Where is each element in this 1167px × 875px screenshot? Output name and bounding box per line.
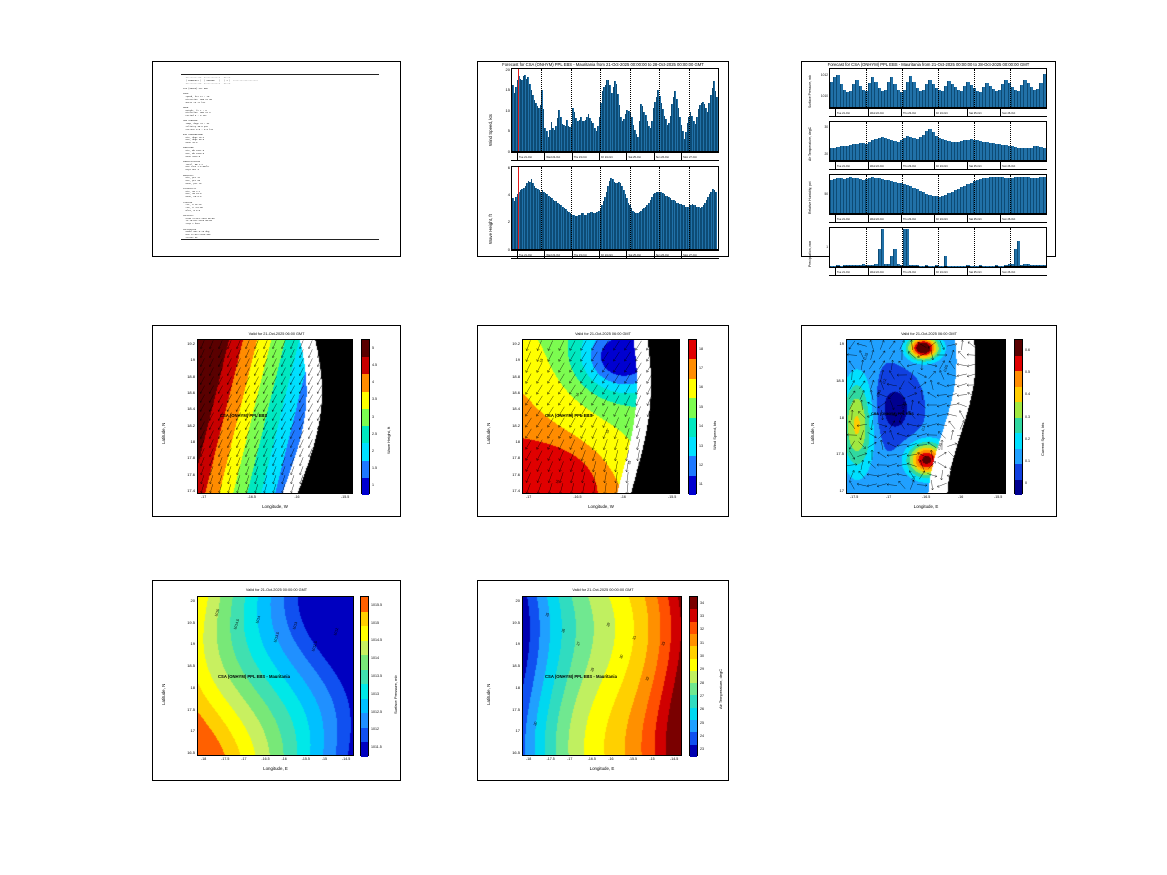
map-y-tick: 20 (496, 598, 520, 603)
colorbar-tick: 0.4 (1025, 392, 1030, 396)
map-x-tick: -15.5 (302, 757, 310, 761)
date-tick: Thu 23-Oct (901, 268, 934, 275)
gridline (659, 69, 660, 151)
bar (1043, 74, 1046, 107)
map-x-tick: -16.5 (573, 495, 581, 499)
colorbar-tick: 34 (700, 601, 704, 605)
colorbar-segment (1015, 433, 1022, 449)
date-tick: Sun 26-Oct (1000, 268, 1033, 275)
map-y-tick: 17.6 (496, 472, 520, 477)
colorbar-tick: 25 (700, 721, 704, 725)
y-tick-label: 5 (484, 128, 510, 133)
map-x-tick: -17 (526, 495, 531, 499)
colorbar-tick: 0.2 (1025, 437, 1030, 441)
colorbar-segment (361, 728, 368, 743)
gridline (1010, 122, 1011, 160)
map-x-tick: -17.5 (221, 757, 229, 761)
colorbar-tick: 0.6 (1025, 348, 1030, 352)
date-tick: Wed 22-Oct (544, 153, 571, 160)
temp-colorbar-label: Air Temperature, degC (718, 669, 723, 709)
colorbar-segment (361, 670, 368, 685)
map-y-tick: 19 (171, 641, 195, 646)
gridline (902, 175, 903, 213)
map-y-tick: 17.4 (171, 488, 195, 493)
map-x-tick: -16.5 (588, 757, 596, 761)
precipitation-date-axis: Tue 21-OctWed 22-OctThu 23-OctFri 24-Oct… (829, 267, 1047, 276)
colorbar-segment (362, 461, 369, 478)
colorbar-segment (362, 392, 369, 409)
date-tick: Fri 24-Oct (934, 162, 967, 169)
map-y-tick: 17 (496, 728, 520, 733)
colorbar-tick: 2 (372, 449, 374, 453)
current-colorbar-label: Current Speed, kts (1040, 423, 1045, 456)
map-x-tick: -17.5 (850, 495, 858, 499)
colorbar-tick: 31 (700, 641, 704, 645)
colorbar-segment (1015, 418, 1022, 434)
y-tick-label: 1 (802, 245, 828, 249)
map-y-tick: 19 (496, 357, 520, 362)
gridline (866, 228, 867, 266)
colorbar-tick: 3 (372, 415, 374, 419)
bar (881, 229, 884, 266)
map-x-tick: -16.5 (261, 757, 269, 761)
current-speed-map-panel: Valid for 21-Oct-2025 06:00 GMT CSA (ONH… (801, 325, 1057, 517)
date-tick: Thu 23-Oct (901, 215, 934, 222)
map-x-tick: -17 (886, 495, 891, 499)
map-x-tick: -16 (294, 495, 299, 499)
colorbar-tick: 32 (700, 627, 704, 631)
date-tick: Tue 21-Oct (835, 162, 868, 169)
now-marker-wind (518, 69, 519, 151)
date-tick: Sun 26-Oct (654, 251, 681, 258)
map-y-tick: 16.5 (171, 750, 195, 755)
colorbar-segment (690, 745, 697, 757)
map-y-tick: 19 (496, 641, 520, 646)
wind-speed-date-axis: Tue 21-OctWed 22-OctThu 23-OctFri 24-Oct… (511, 152, 719, 161)
gridline (689, 69, 690, 151)
map-x-tick: -15.5 (341, 495, 349, 499)
date-tick: Tue 21-Oct (517, 251, 544, 258)
date-tick: Fri 24-Oct (599, 251, 626, 258)
date-tick: Mon 27-Oct (681, 153, 708, 160)
map-y-tick: 18.2 (496, 423, 520, 428)
temp-map-ylabel: Latitude, N (486, 684, 491, 705)
date-tick: Fri 24-Oct (934, 109, 967, 116)
map-x-tick: -15.5 (994, 495, 1002, 499)
map-y-tick: 18 (496, 439, 520, 444)
colorbar-segment (690, 646, 697, 658)
date-tick: Tue 21-Oct (835, 215, 868, 222)
map-y-tick: 19 (820, 341, 844, 346)
colorbar-segment (362, 478, 369, 495)
date-tick: Thu 23-Oct (572, 153, 599, 160)
colorbar-tick: 1015 (371, 621, 379, 625)
site-label-pressure: CSA (ONHYM) PPL EBS - Mauritania (218, 674, 290, 679)
map-y-tick: 18.2 (171, 423, 195, 428)
colorbar-segment (362, 374, 369, 391)
colorbar-tick: 1012 (371, 727, 379, 731)
colorbar-tick: 1012.5 (371, 710, 382, 714)
map-y-tick: 19.2 (496, 341, 520, 346)
map-y-tick: 18.5 (820, 378, 844, 383)
surface-pressure-map-area: CSA (ONHYM) PPL EBS - Mauritania 1015101… (197, 596, 354, 756)
map-y-tick: 18.5 (171, 663, 195, 668)
contour-label: 16 (555, 479, 560, 484)
date-tick: Wed 22-Oct (868, 215, 901, 222)
colorbar-tick: 0.3 (1025, 415, 1030, 419)
wave-map-title: Valid for 21-Oct-2025 06:00 GMT (153, 332, 400, 336)
map-x-tick: -16 (282, 757, 287, 761)
map-x-tick: -16 (608, 757, 613, 761)
map-y-tick: 17.5 (171, 707, 195, 712)
map-x-tick: -15 (322, 757, 327, 761)
contour-label: 18 (539, 358, 544, 363)
gridline (974, 228, 975, 266)
wind-map-ylabel: Latitude, N (486, 423, 491, 444)
colorbar-tick: 1 (372, 483, 374, 487)
site-label-wave: CSA (ONHYM) PPL EBS (220, 413, 267, 418)
wind-map-xlabel: Longitude, W (522, 504, 680, 509)
colorbar-tick: 5 (372, 346, 374, 350)
gridline (1010, 228, 1011, 266)
gridline (541, 167, 542, 249)
date-tick: Sun 26-Oct (1000, 109, 1033, 116)
colorbar-segment (690, 609, 697, 621)
map-x-tick: -15.5 (668, 495, 676, 499)
temp-colorbar (689, 596, 698, 756)
colorbar-segment (689, 359, 696, 378)
contour-field (847, 340, 1005, 493)
colorbar-segment (690, 671, 697, 683)
contour-label: 31 (632, 635, 637, 640)
colorbar-segment (690, 597, 697, 609)
colorbar-segment (1015, 480, 1022, 496)
wind-colorbar (688, 339, 697, 494)
pressure-map-xlabel: Longitude, E (197, 766, 354, 771)
date-tick: Thu 23-Oct (901, 162, 934, 169)
colorbar-segment (361, 713, 368, 728)
bar (906, 229, 909, 266)
gridline (974, 175, 975, 213)
colorbar-tick: 24 (700, 734, 704, 738)
map-y-tick: 19.5 (171, 620, 195, 625)
map-y-tick: 17.8 (496, 455, 520, 460)
date-tick: Sat 25-Oct (967, 215, 1000, 222)
colorbar-tick: 1011.5 (371, 745, 382, 749)
map-y-tick: 18.4 (171, 406, 195, 411)
colorbar-segment (689, 456, 696, 475)
colorbar-tick: 27 (700, 694, 704, 698)
now-marker-wave (518, 167, 519, 249)
date-tick: Wed 22-Oct (868, 268, 901, 275)
map-y-tick: 18 (820, 415, 844, 420)
date-tick: Sun 26-Oct (654, 153, 681, 160)
date-tick: Sat 25-Oct (967, 109, 1000, 116)
gridline (902, 122, 903, 160)
wind-speed-bars (512, 69, 718, 151)
colorbar-tick: 1014 (371, 656, 379, 660)
gridline (689, 167, 690, 249)
wave-map-xlabel: Longitude, W (197, 504, 353, 509)
current-colorbar (1014, 339, 1023, 494)
colorbar-segment (362, 426, 369, 443)
map-y-tick: 17.5 (820, 451, 844, 456)
colorbar-segment (690, 732, 697, 744)
map-x-tick: -15 (649, 757, 654, 761)
site-label-current: CSA (ONHYM) PPL EBS (871, 412, 914, 416)
colorbar-segment (1015, 402, 1022, 418)
map-y-tick: 18.6 (496, 390, 520, 395)
date-tick: Wed 22-Oct (544, 251, 571, 258)
site-label-wind: CSA (ONHYM) PPL EBS (545, 413, 592, 418)
date-tick: Fri 24-Oct (599, 153, 626, 160)
current-map-ylabel: Latitude, N (810, 423, 815, 444)
wave-map-ylabel: Latitude, N (161, 423, 166, 444)
map-x-tick: -15.5 (629, 757, 637, 761)
pressure-map-title: Valid for 21-Oct-2025 00:00:00 GMT (153, 588, 400, 592)
map-y-tick: 18.8 (496, 374, 520, 379)
colorbar-tick: 13 (699, 444, 703, 448)
gridline (600, 167, 601, 249)
map-x-tick: -16.5 (248, 495, 256, 499)
gridline (902, 228, 903, 266)
air-temperature-map-area: CSA (ONHYM) PPL EBS - Mauritania 2025262… (522, 596, 682, 756)
date-tick: Tue 21-Oct (517, 153, 544, 160)
colorbar-segment (361, 597, 368, 612)
temp-map-title: Valid for 21-Oct-2025 00:00:00 GMT (478, 588, 728, 592)
wind-map-title: Valid for 21-Oct-2025 06:00 GMT (478, 332, 728, 336)
met-timeseries-panel: Forecast for CSA (ONHYM) PPL EBS - Mauri… (801, 61, 1056, 257)
colorbar-segment (689, 379, 696, 398)
y-tick-label: 6 (484, 165, 510, 170)
temp-map-xlabel: Longitude, E (522, 766, 682, 771)
surface-pressure-map-panel: Valid for 21-Oct-2025 00:00:00 GMT CSA (… (152, 580, 401, 781)
colorbar-tick: 28 (700, 681, 704, 685)
colorbar-segment (1015, 340, 1022, 356)
bar (715, 192, 717, 249)
map-x-tick: -16 (958, 495, 963, 499)
wave-colorbar (361, 339, 370, 494)
colorbar-segment (690, 683, 697, 695)
wind-speed-map-area: CSA (ONHYM) PPL EBS 1816151816 (522, 339, 680, 494)
colorbar-segment (362, 443, 369, 460)
bar (1043, 148, 1046, 160)
colorbar-tick: 33 (700, 614, 704, 618)
date-tick: Tue 21-Oct (835, 268, 868, 275)
gridline (938, 69, 939, 107)
gridline (902, 69, 903, 107)
colorbar-tick: 29 (700, 667, 704, 671)
colorbar-segment (361, 742, 368, 757)
y-tick-label: 1012 (802, 73, 828, 77)
map-x-tick: -14.5 (670, 757, 678, 761)
gridline (938, 175, 939, 213)
y-tick-label: 2 (484, 219, 510, 224)
map-x-tick: -17 (241, 757, 246, 761)
date-tick: Sun 26-Oct (1000, 162, 1033, 169)
date-tick: Mon 27-Oct (681, 251, 708, 258)
colorbar-segment (1015, 356, 1022, 372)
map-y-tick: 18.6 (171, 390, 195, 395)
gridline (630, 69, 631, 151)
wave-colorbar-label: Wave Height, ft (386, 427, 391, 454)
bar (1017, 241, 1020, 266)
met-timeseries-title: Forecast for CSA (ONHYM) PPL EBS - Mauri… (802, 62, 1055, 67)
colorbar-tick: 0.1 (1025, 459, 1030, 463)
pressure-colorbar (360, 596, 369, 756)
map-x-tick: -16 (621, 495, 626, 499)
colorbar-segment (361, 641, 368, 656)
colorbar-segment (1015, 387, 1022, 403)
colorbar-tick: 0.5 (1025, 370, 1030, 374)
map-y-tick: 18 (496, 685, 520, 690)
gridline (1010, 69, 1011, 107)
air-temperature-map-panel: Valid for 21-Oct-2025 00:00:00 GMT CSA (… (477, 580, 729, 781)
colorbar-tick: 1013.5 (371, 674, 382, 678)
current-map-title: Valid for 21-Oct-2025 06:00 GMT (802, 332, 1056, 336)
site-label-temperature: CSA (ONHYM) PPL EBS - Mauritania (545, 674, 617, 679)
y-tick-label: 20 (484, 67, 510, 72)
date-tick: Sat 25-Oct (626, 251, 653, 258)
colorbar-segment (689, 418, 696, 437)
gridline (1010, 175, 1011, 213)
colorbar-segment (689, 437, 696, 456)
date-tick: Wed 22-Oct (868, 109, 901, 116)
colorbar-tick: 14 (699, 424, 703, 428)
colorbar-tick: 4 (372, 380, 374, 384)
y-tick-label: 50 (802, 192, 828, 196)
date-tick: Tue 21-Oct (835, 109, 868, 116)
forecast-report-panel: +----------+ +----------+ +---+ | FORECA… (152, 61, 401, 257)
gridline (938, 228, 939, 266)
map-y-tick: 16.5 (496, 750, 520, 755)
colorbar-tick: 23 (700, 747, 704, 751)
y-tick-label: 4 (484, 192, 510, 197)
colorbar-segment (361, 699, 368, 714)
map-y-tick: 19.2 (171, 341, 195, 346)
y-tick-label: 0 (484, 149, 510, 154)
wave-height-bars (512, 167, 718, 249)
pressure-map-ylabel: Latitude, N (161, 684, 166, 705)
colorbar-tick: 4.5 (372, 363, 377, 367)
y-tick-label: 1010 (802, 94, 828, 98)
colorbar-tick: 1.5 (372, 466, 377, 470)
colorbar-segment (690, 659, 697, 671)
date-tick: Sat 25-Oct (626, 153, 653, 160)
gridline (571, 69, 572, 151)
timeseries-title: Forecast for CSA (ONHYM) PPL EBS - Mauri… (478, 62, 728, 67)
colorbar-tick: 2.5 (372, 432, 377, 436)
map-y-tick: 18.5 (496, 663, 520, 668)
colorbar-tick: 1015.5 (371, 603, 382, 607)
date-tick: Thu 23-Oct (572, 251, 599, 258)
map-x-tick: -17 (567, 757, 572, 761)
map-y-tick: 17.4 (496, 488, 520, 493)
colorbar-segment (362, 357, 369, 374)
map-y-tick: 20 (171, 598, 195, 603)
date-tick: Fri 24-Oct (934, 215, 967, 222)
wave-height-date-axis: Tue 21-OctWed 22-OctThu 23-OctFri 24-Oct… (511, 250, 719, 259)
colorbar-tick: 1014.5 (371, 638, 382, 642)
colorbar-segment (689, 340, 696, 359)
colorbar-segment (690, 634, 697, 646)
map-y-tick: 18 (171, 439, 195, 444)
colorbar-tick: 30 (700, 654, 704, 658)
colorbar-tick: 17 (699, 366, 703, 370)
report-divider-top (181, 74, 379, 75)
date-tick: Thu 23-Oct (901, 109, 934, 116)
colorbar-segment (690, 695, 697, 707)
colorbar-tick: 26 (700, 707, 704, 711)
gridline (866, 69, 867, 107)
colorbar-segment (690, 622, 697, 634)
gridline (938, 122, 939, 160)
colorbar-tick: 11 (699, 482, 703, 486)
gridline (541, 69, 542, 151)
map-y-tick: 17 (171, 728, 195, 733)
colorbar-tick: 16 (699, 385, 703, 389)
current-speed-map-area: CSA (ONHYM) PPL EBS 0.150.20.250.30.350.… (846, 339, 1006, 494)
y-tick-label: 20 (802, 152, 828, 156)
pressure-ylabel: Surface Pressure, mb (808, 75, 812, 108)
map-y-tick: 19.5 (496, 620, 520, 625)
bar (944, 256, 947, 266)
map-x-tick: -18 (201, 757, 206, 761)
gridline (630, 167, 631, 249)
colorbar-segment (690, 708, 697, 720)
map-x-tick: -18 (526, 757, 531, 761)
wave-height-map-area: CSA (ONHYM) PPL EBS (197, 339, 353, 494)
y-tick-label: 0 (484, 247, 510, 252)
date-tick: Fri 24-Oct (934, 268, 967, 275)
pressure-colorbar-label: Surface Pressure, mb (393, 675, 398, 714)
colorbar-segment (1015, 449, 1022, 465)
map-y-tick: 17 (820, 488, 844, 493)
colorbar-tick: 0 (1025, 481, 1027, 485)
colorbar-segment (689, 476, 696, 495)
wind-wave-timeseries-panel: Forecast for CSA (ONHYM) PPL EBS - Mauri… (477, 61, 729, 257)
colorbar-tick: 15 (699, 405, 703, 409)
map-y-tick: 18.4 (496, 406, 520, 411)
colorbar-tick: 3.5 (372, 397, 377, 401)
date-tick: Sat 25-Oct (967, 162, 1000, 169)
map-y-tick: 18.8 (171, 374, 195, 379)
colorbar-tick: 12 (699, 463, 703, 467)
gridline (974, 122, 975, 160)
map-y-tick: 19 (171, 357, 195, 362)
gridline (866, 122, 867, 160)
map-x-tick: -14.5 (342, 757, 350, 761)
wave-height-map-panel: Valid for 21-Oct-2025 06:00 GMT CSA (ONH… (152, 325, 401, 517)
gridline (974, 69, 975, 107)
date-tick: Sat 25-Oct (967, 268, 1000, 275)
report-text: +----------+ +----------+ +---+ | FORECA… (183, 77, 396, 250)
wind-speed-map-panel: Valid for 21-Oct-2025 06:00 GMT CSA (ONH… (477, 325, 729, 517)
colorbar-segment (362, 340, 369, 357)
colorbar-tick: 18 (699, 347, 703, 351)
humidity-date-axis: Tue 21-OctWed 22-OctThu 23-OctFri 24-Oct… (829, 214, 1047, 223)
gridline (659, 167, 660, 249)
map-x-tick: -17.5 (547, 757, 555, 761)
map-x-tick: -16.5 (922, 495, 930, 499)
y-tick-label: 10 (484, 108, 510, 113)
wind-colorbar-label: Wind Speed, kts (712, 421, 717, 450)
date-tick: Wed 22-Oct (868, 162, 901, 169)
y-tick-label: 15 (484, 87, 510, 92)
map-y-tick: 18 (171, 685, 195, 690)
map-y-tick: 17.8 (171, 455, 195, 460)
colorbar-segment (690, 720, 697, 732)
